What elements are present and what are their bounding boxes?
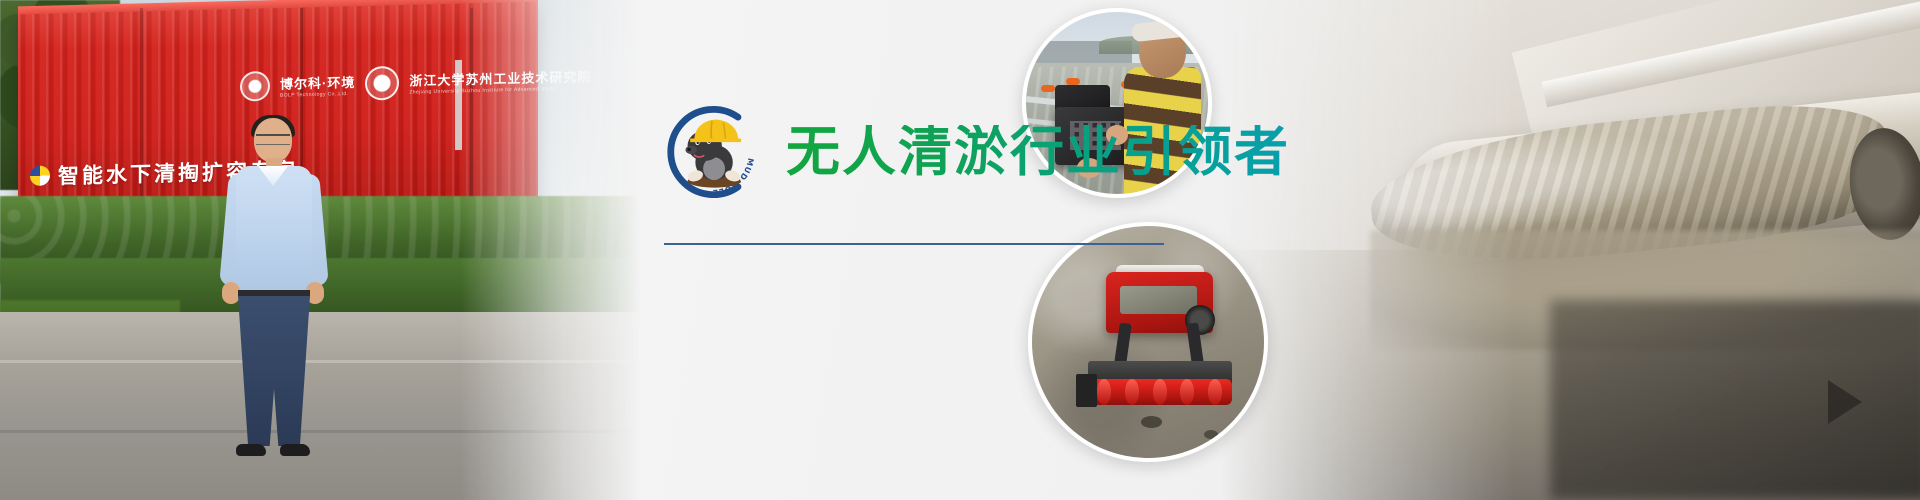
container-seam [470, 8, 473, 213]
center-content: MUD MOLE [660, 0, 1220, 500]
slogan-mark-icon [30, 166, 50, 186]
hero-banner: 博尔科·环境 BOLP Technology Co.,Ltd. 浙江大学苏州工业… [0, 0, 1920, 500]
brand-row: MUD MOLE [660, 100, 1290, 204]
chevron-marker-icon [1828, 380, 1862, 424]
container-brand-en: BOLP Technology Co.,Ltd. [280, 90, 355, 98]
container-logo-row: 博尔科·环境 BOLP Technology Co.,Ltd. 浙江大学苏州工业… [240, 58, 540, 107]
headline-text: 无人清淤行业引领者 [786, 125, 1290, 179]
engineer-figure [218, 118, 328, 448]
zju-brand-block: 浙江大学苏州工业技术研究院 Zhejiang University Suzhou… [409, 66, 591, 95]
logo-mole-nose [687, 148, 691, 152]
engineer-trousers [238, 296, 310, 446]
logo-hard-hat [694, 120, 738, 139]
logo-mole-snout [685, 146, 696, 154]
bolp-emblem-icon [240, 71, 270, 102]
logo-hat-rib [711, 121, 712, 139]
mud-mole-logo: MUD MOLE [660, 100, 764, 204]
engineer-glasses [256, 134, 290, 145]
bolp-brand-block: 博尔科·环境 BOLP Technology Co.,Ltd. [280, 71, 355, 98]
left-photo-container-lab: 博尔科·环境 BOLP Technology Co.,Ltd. 浙江大学苏州工业… [0, 0, 640, 500]
headline-divider [664, 243, 1164, 245]
engineer-left-shoe [236, 444, 266, 456]
right-photo-pipe-discharge [1220, 0, 1920, 500]
engineer-right-shoe [280, 444, 310, 456]
zju-emblem-icon [365, 66, 399, 101]
container-brand-cn: 博尔科·环境 [280, 71, 355, 92]
engineer-shirt [236, 166, 312, 294]
logo-hard-hat-brim [690, 138, 741, 142]
shadow-pool [1550, 300, 1920, 500]
